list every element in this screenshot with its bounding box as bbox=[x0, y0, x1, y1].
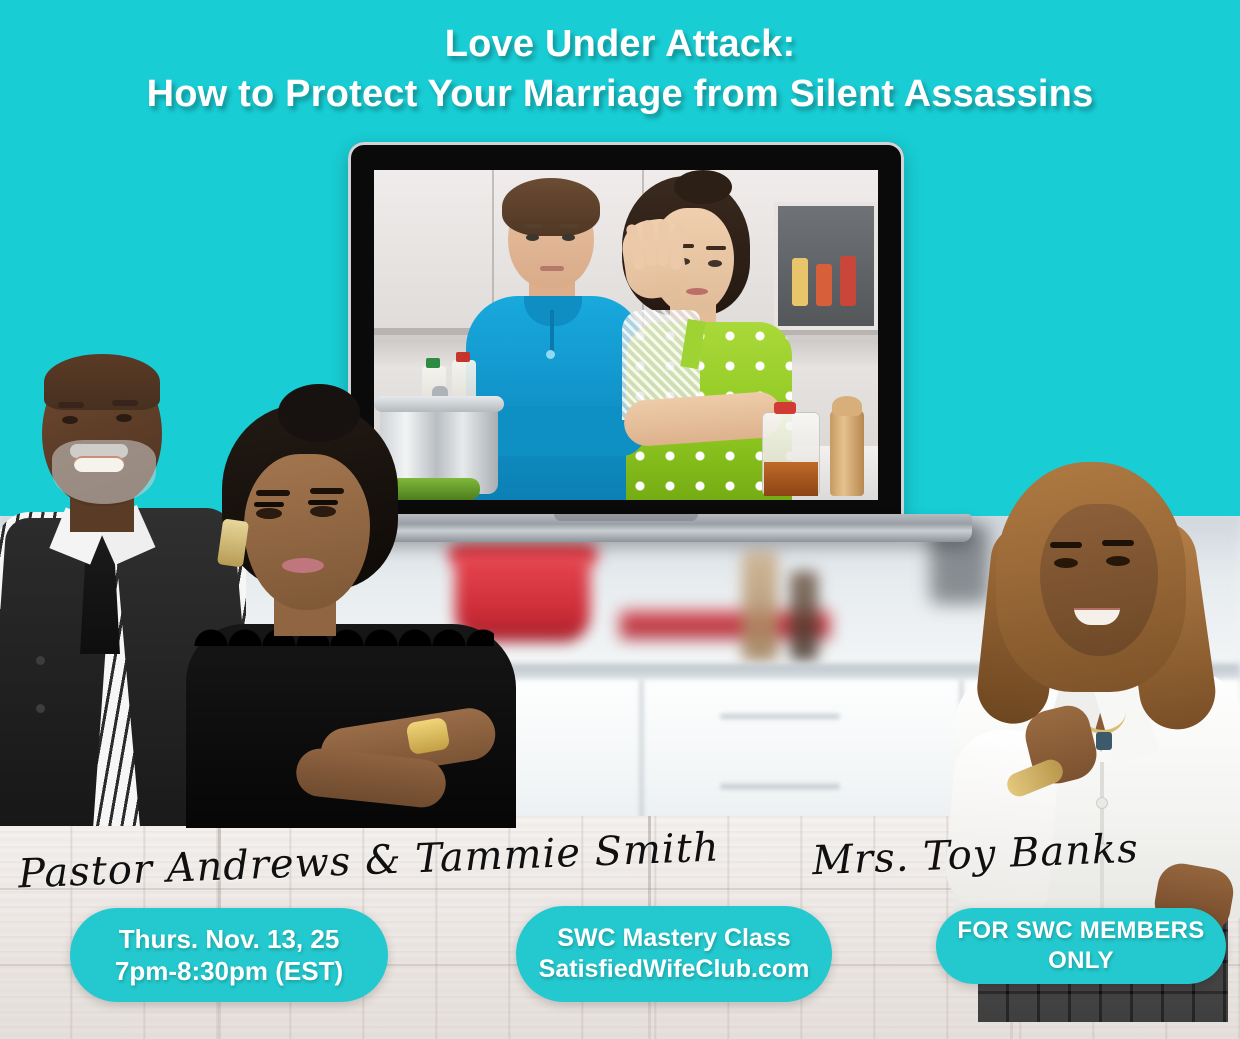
pastor-smile bbox=[74, 456, 124, 472]
tammie-eye bbox=[310, 506, 336, 517]
pastor-eye bbox=[116, 414, 132, 422]
members-only-badge[interactable]: FOR SWC MEMBERS ONLY bbox=[936, 908, 1226, 984]
pastor-brow bbox=[112, 400, 138, 406]
cabinet-handle bbox=[720, 784, 840, 789]
banks-brow bbox=[1102, 540, 1134, 546]
screen-spice-jar bbox=[840, 256, 856, 306]
screen-man-eye bbox=[526, 234, 539, 241]
tammie-lips bbox=[282, 558, 324, 573]
tammie-scalloped-neckline bbox=[194, 620, 494, 646]
pastor-eye bbox=[62, 416, 78, 424]
screen-man-hair bbox=[502, 178, 600, 236]
screen-spice-jar bbox=[816, 264, 832, 306]
screen-pepper-mill bbox=[830, 410, 864, 496]
tammie-lash bbox=[254, 502, 284, 507]
banks-blouse-button bbox=[1097, 798, 1107, 808]
tammie-face bbox=[244, 454, 370, 610]
screen-woman-brow bbox=[706, 246, 726, 250]
date-time-badge[interactable]: Thurs. Nov. 13, 25 7pm-8:30pm (EST) bbox=[70, 908, 388, 1002]
event-flyer: Love Under Attack: How to Protect Your M… bbox=[0, 0, 1240, 1039]
tammie-brow bbox=[310, 488, 344, 494]
banks-face bbox=[1040, 504, 1158, 656]
wooden-jar bbox=[742, 551, 778, 661]
screen-man-eye bbox=[562, 234, 575, 241]
screen-bottle-cap bbox=[426, 358, 440, 368]
screen-man-brow bbox=[560, 224, 578, 228]
screen-man-mouth bbox=[540, 266, 564, 271]
screen-woman-bun bbox=[674, 170, 732, 204]
banks-pendant bbox=[1096, 732, 1112, 750]
pastor-brow bbox=[58, 402, 84, 408]
screen-pepper-mill-top bbox=[832, 396, 862, 416]
tammie-brow bbox=[256, 490, 290, 496]
date-badge-line-2: 7pm-8:30pm (EST) bbox=[115, 955, 343, 987]
tammie-top-bun bbox=[278, 384, 360, 442]
members-badge-line-1: FOR SWC MEMBERS ONLY bbox=[936, 916, 1226, 976]
banks-eye bbox=[1054, 558, 1078, 568]
pastor-vest-button bbox=[36, 656, 45, 665]
screen-man-brow bbox=[524, 224, 542, 228]
banks-eye bbox=[1106, 556, 1130, 566]
title-line-2: How to Protect Your Marriage from Silent… bbox=[0, 72, 1240, 116]
screen-woman-mouth bbox=[686, 288, 708, 295]
title-line-1: Love Under Attack: bbox=[0, 22, 1240, 66]
banks-brow bbox=[1050, 542, 1082, 548]
dark-jar bbox=[790, 571, 818, 661]
screen-bottle-cap bbox=[456, 352, 470, 362]
screen-jug-cap bbox=[774, 402, 796, 414]
date-badge-line-1: Thurs. Nov. 13, 25 bbox=[119, 923, 340, 955]
screen-woman-finger bbox=[658, 220, 669, 266]
speaker-photo-tammie-smith bbox=[186, 398, 516, 828]
laptop-base-notch bbox=[554, 514, 698, 521]
class-badge-line-1: SWC Mastery Class bbox=[557, 923, 790, 954]
screen-spice-jar bbox=[792, 258, 808, 306]
screen-man-placket bbox=[550, 310, 554, 354]
cabinet-handle bbox=[720, 714, 840, 719]
class-badge-line-2: SatisfiedWifeClub.com bbox=[539, 954, 810, 985]
pastor-vest-button bbox=[36, 704, 45, 713]
screen-man-button bbox=[546, 350, 555, 359]
flyer-title: Love Under Attack: How to Protect Your M… bbox=[0, 22, 1240, 116]
tammie-lash bbox=[308, 500, 338, 505]
tammie-eye bbox=[256, 508, 282, 519]
screen-woman-eye bbox=[708, 260, 722, 267]
class-website-badge[interactable]: SWC Mastery Class SatisfiedWifeClub.com bbox=[516, 906, 832, 1002]
screen-jug-liquid bbox=[764, 462, 818, 496]
